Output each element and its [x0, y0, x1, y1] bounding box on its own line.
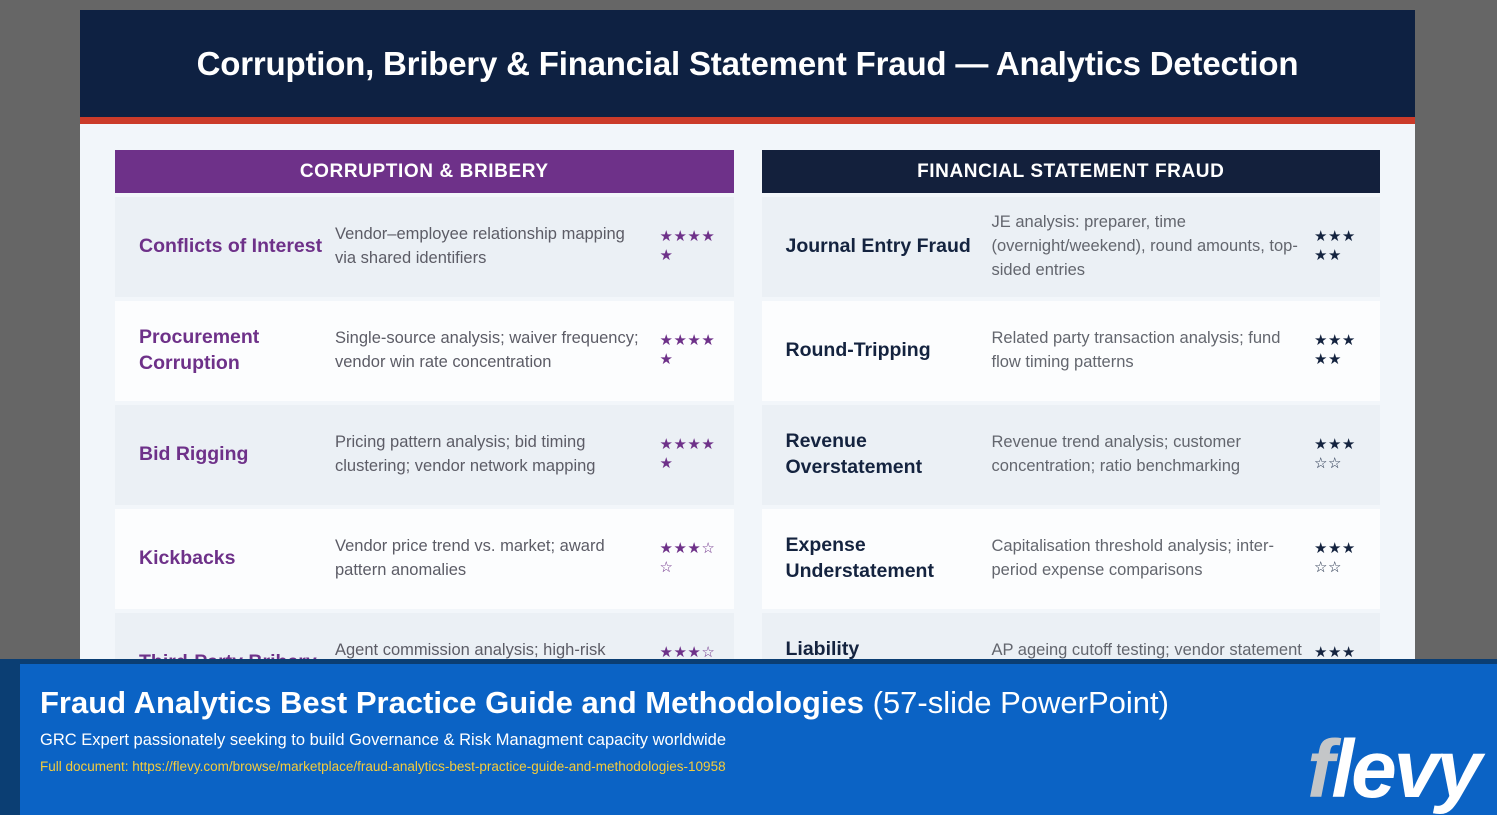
row-scheme-name: Conflicts of Interest	[139, 234, 335, 260]
rows-financial-statement-fraud: Journal Entry Fraud JE analysis: prepare…	[762, 197, 1381, 686]
flevy-logo-levy: levy	[1331, 724, 1479, 815]
row-scheme-name: Round-Tripping	[786, 338, 992, 364]
row-rating-stars: ★★★☆☆	[1314, 436, 1368, 474]
column-header-financial-statement-fraud: FINANCIAL STATEMENT FRAUD	[762, 150, 1381, 193]
row-detection-technique: Related party transaction analysis; fund…	[992, 327, 1315, 375]
row-rating-stars: ★★★★★	[1314, 228, 1368, 266]
row-scheme-name: Kickbacks	[139, 546, 335, 572]
row-rating-stars: ★★★★★	[1314, 332, 1368, 370]
row-scheme-name: Bid Rigging	[139, 442, 335, 468]
flevy-logo[interactable]: flevy	[1307, 729, 1479, 811]
row-detection-technique: Vendor price trend vs. market; award pat…	[335, 535, 660, 583]
row-rating-stars: ★★★☆☆	[1314, 540, 1368, 578]
banner-document-link[interactable]: Full document: https://flevy.com/browse/…	[40, 759, 1497, 774]
row-scheme-name: Procurement Corruption	[139, 325, 335, 376]
column-header-label: CORRUPTION & BRIBERY	[300, 161, 549, 183]
slide-canvas: Corruption, Bribery & Financial Statemen…	[80, 10, 1415, 686]
row-scheme-name: Journal Entry Fraud	[786, 234, 992, 260]
title-accent-bar	[80, 117, 1415, 124]
row-rating-stars: ★★★★★	[660, 436, 722, 474]
banner-title-slide-count: (57-slide PowerPoint)	[864, 685, 1169, 720]
table-row: Expense Understatement Capitalisation th…	[762, 509, 1381, 609]
banner-author-tagline: GRC Expert passionately seeking to build…	[40, 731, 1497, 750]
row-rating-stars: ★★★☆☆	[660, 540, 722, 578]
table-row: Kickbacks Vendor price trend vs. market;…	[115, 509, 734, 609]
banner-document-title: Fraud Analytics Best Practice Guide and …	[40, 686, 1497, 720]
table-row: Round-Tripping Related party transaction…	[762, 301, 1381, 401]
table-row: Conflicts of Interest Vendor–employee re…	[115, 197, 734, 297]
table-row: Procurement Corruption Single-source ana…	[115, 301, 734, 401]
row-scheme-name: Expense Understatement	[786, 533, 992, 584]
column-corruption-bribery: CORRUPTION & BRIBERY Conflicts of Intere…	[115, 150, 734, 686]
flevy-logo-f: f	[1307, 724, 1331, 815]
column-header-label: FINANCIAL STATEMENT FRAUD	[917, 161, 1224, 183]
rows-corruption-bribery: Conflicts of Interest Vendor–employee re…	[115, 197, 734, 686]
flevy-promo-banner: Fraud Analytics Best Practice Guide and …	[0, 659, 1497, 815]
table-row: Journal Entry Fraud JE analysis: prepare…	[762, 197, 1381, 297]
column-financial-statement-fraud: FINANCIAL STATEMENT FRAUD Journal Entry …	[762, 150, 1381, 686]
row-scheme-name: Revenue Overstatement	[786, 429, 992, 480]
comparison-columns: CORRUPTION & BRIBERY Conflicts of Intere…	[80, 124, 1415, 686]
table-row: Revenue Overstatement Revenue trend anal…	[762, 405, 1381, 505]
column-header-corruption-bribery: CORRUPTION & BRIBERY	[115, 150, 734, 193]
row-rating-stars: ★★★★★	[660, 332, 722, 370]
page-title: Corruption, Bribery & Financial Statemen…	[80, 45, 1415, 83]
row-rating-stars: ★★★★★	[660, 228, 722, 266]
row-detection-technique: Capitalisation threshold analysis; inter…	[992, 535, 1315, 583]
banner-title-bold: Fraud Analytics Best Practice Guide and …	[40, 685, 864, 720]
row-detection-technique: Revenue trend analysis; customer concent…	[992, 431, 1315, 479]
banner-text-block: Fraud Analytics Best Practice Guide and …	[40, 686, 1497, 774]
row-detection-technique: JE analysis: preparer, time (overnight/w…	[992, 211, 1315, 283]
row-detection-technique: Vendor–employee relationship mapping via…	[335, 223, 660, 271]
row-detection-technique: Single-source analysis; waiver frequency…	[335, 327, 660, 375]
slide-title-band: Corruption, Bribery & Financial Statemen…	[80, 10, 1415, 117]
table-row: Bid Rigging Pricing pattern analysis; bi…	[115, 405, 734, 505]
row-detection-technique: Pricing pattern analysis; bid timing clu…	[335, 431, 660, 479]
